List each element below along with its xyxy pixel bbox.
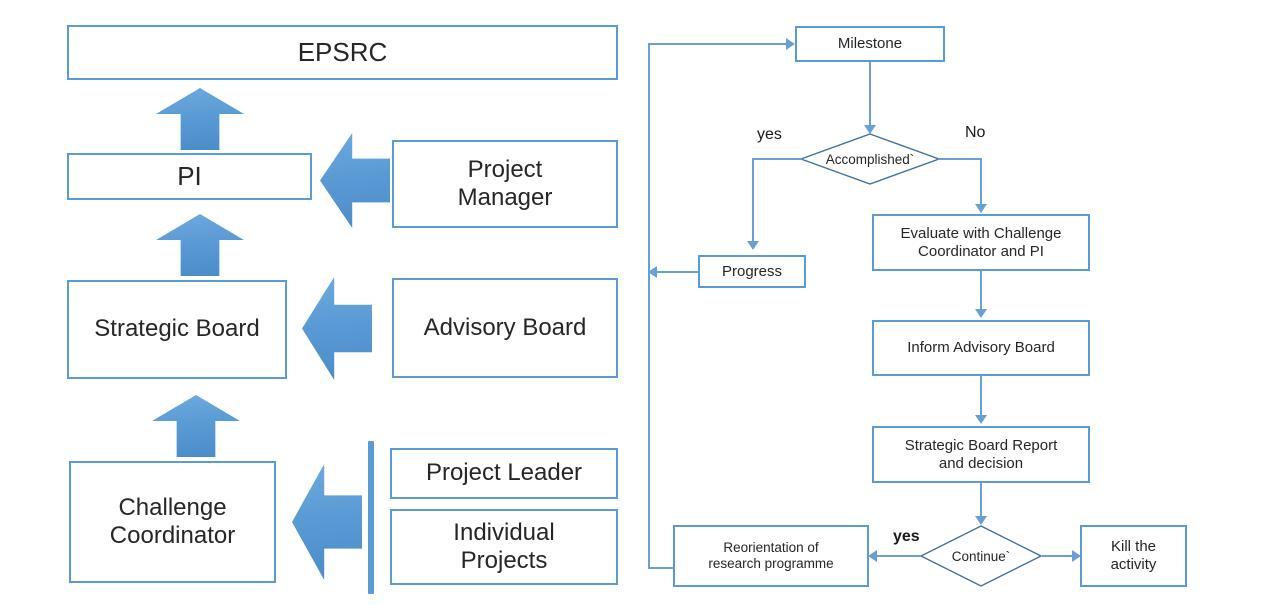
connector-accomplished-yes-vertical bbox=[752, 158, 754, 243]
connector-loop-left-rail bbox=[648, 43, 650, 568]
org-node-advisory-board[interactable]: Advisory Board bbox=[392, 278, 618, 378]
arrowhead-progress-to-loop-icon bbox=[648, 266, 657, 278]
flow-decision-continue[interactable]: Continue` bbox=[920, 525, 1042, 587]
arrowhead-loop-to-milestone-icon bbox=[786, 38, 795, 50]
arrow-advisory-board-to-strategic-board-icon bbox=[302, 277, 372, 380]
flow-decision-continue-label: Continue` bbox=[920, 525, 1042, 587]
arrowhead-accomplished-yes-to-progress-icon bbox=[747, 241, 759, 250]
org-node-epsrc[interactable]: EPSRC bbox=[67, 25, 618, 80]
flow-node-progress[interactable]: Progress bbox=[698, 255, 806, 288]
arrowhead-inform-to-report-icon bbox=[975, 415, 987, 424]
flow-decision-accomplished-label: Accomplished` bbox=[800, 133, 940, 185]
connector-progress-to-loop bbox=[653, 271, 699, 273]
connector-loop-top-to-milestone bbox=[648, 43, 787, 45]
connector-reorientation-to-loop bbox=[648, 567, 675, 569]
org-node-project-leader[interactable]: Project Leader bbox=[390, 448, 618, 499]
org-node-strategic-board[interactable]: Strategic Board bbox=[67, 280, 287, 379]
flow-node-milestone[interactable]: Milestone bbox=[795, 26, 945, 62]
connector-accomplished-no-horizontal bbox=[938, 158, 982, 160]
connector-report-to-continue bbox=[980, 483, 982, 519]
arrowhead-report-to-continue-icon bbox=[975, 516, 987, 525]
flow-node-kill-activity[interactable]: Kill the activity bbox=[1080, 525, 1187, 587]
arrowhead-evaluate-to-inform-icon bbox=[975, 309, 987, 318]
flow-node-inform-advisory-board[interactable]: Inform Advisory Board bbox=[872, 320, 1090, 376]
org-node-individual-projects[interactable]: Individual Projects bbox=[390, 509, 618, 585]
connector-continue-to-kill-activity bbox=[1042, 555, 1074, 557]
arrowhead-continue-yes-to-reorientation-icon bbox=[868, 550, 877, 562]
arrowhead-accomplished-no-to-evaluate-icon bbox=[975, 204, 987, 213]
flow-node-evaluate[interactable]: Evaluate with Challenge Coordinator and … bbox=[872, 214, 1090, 271]
org-node-challenge-coordinator[interactable]: Challenge Coordinator bbox=[69, 461, 276, 583]
projects-group-separator-bar bbox=[368, 441, 374, 594]
arrow-pi-to-epsrc-icon bbox=[156, 88, 244, 150]
edge-label-accomplished-no: No bbox=[965, 124, 985, 142]
org-node-pi[interactable]: PI bbox=[67, 153, 312, 200]
org-node-project-manager[interactable]: Project Manager bbox=[392, 140, 618, 228]
connector-accomplished-yes-horizontal bbox=[752, 158, 802, 160]
connector-evaluate-to-inform bbox=[980, 271, 982, 311]
diagram-canvas: EPSRC PI Project Manager Strategic Board… bbox=[0, 0, 1261, 605]
arrow-projects-to-challenge-coordinator-icon bbox=[292, 464, 362, 580]
connector-accomplished-no-vertical bbox=[980, 158, 982, 206]
edge-label-accomplished-yes: yes bbox=[757, 126, 782, 144]
flow-node-strategic-board-report[interactable]: Strategic Board Report and decision bbox=[872, 426, 1090, 483]
arrow-strategic-board-to-pi-icon bbox=[156, 214, 244, 276]
connector-milestone-to-accomplished bbox=[869, 62, 871, 127]
arrow-challenge-coordinator-to-strategic-board-icon bbox=[152, 395, 240, 457]
connector-inform-to-report bbox=[980, 376, 982, 418]
flow-node-reorientation[interactable]: Reorientation of research programme bbox=[673, 525, 869, 587]
edge-label-continue-yes: yes bbox=[893, 528, 920, 546]
flow-decision-accomplished[interactable]: Accomplished` bbox=[800, 133, 940, 185]
arrow-project-manager-to-pi-icon bbox=[320, 133, 390, 228]
connector-continue-yes-to-reorientation bbox=[875, 555, 921, 557]
